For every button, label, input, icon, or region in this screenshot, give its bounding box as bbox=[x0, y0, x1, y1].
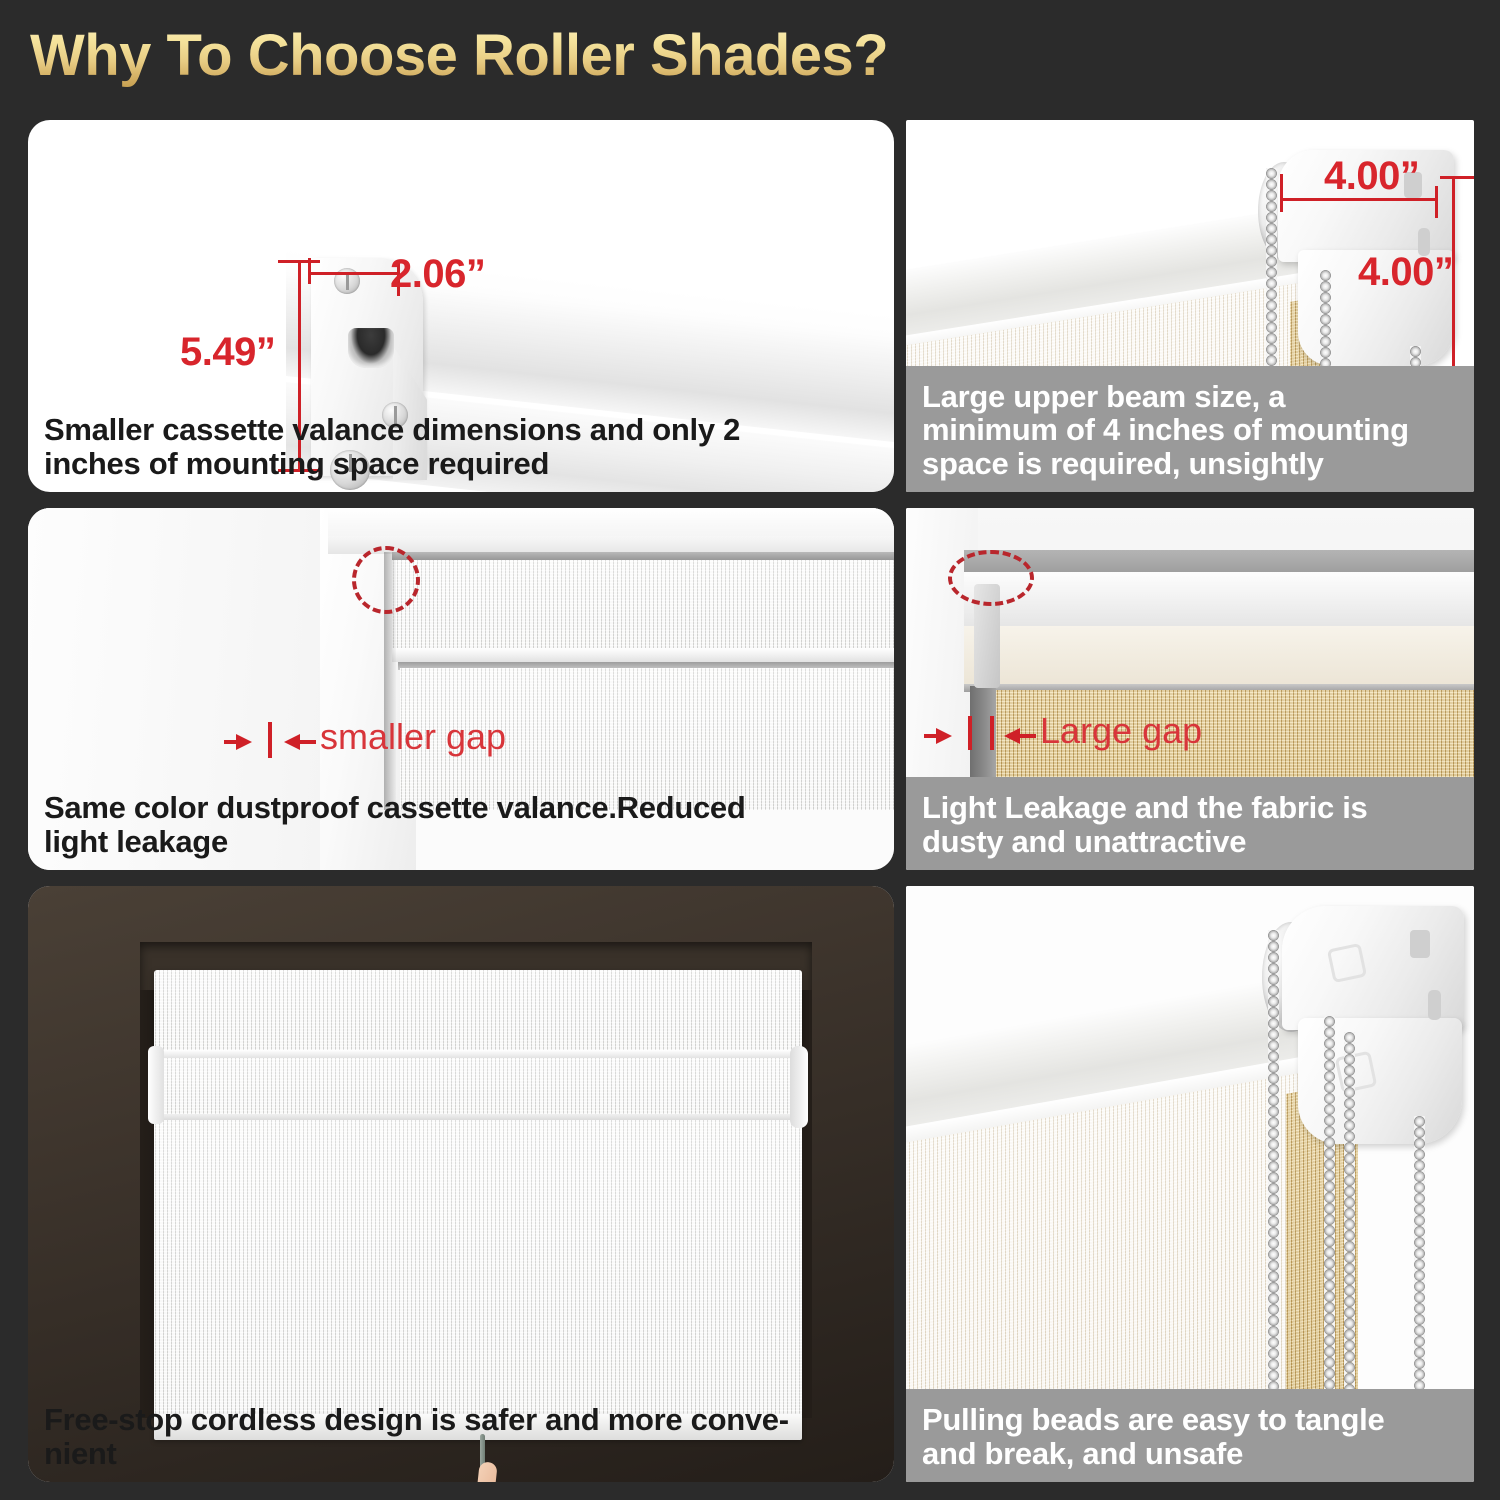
width-dimension-label: 4.00” bbox=[1324, 154, 1419, 199]
beam-front-face bbox=[964, 572, 1474, 630]
caption-line: Same color dustproof cassette valance.Re… bbox=[44, 791, 878, 824]
width-dim-tick-left bbox=[1280, 174, 1283, 212]
caption-line: Pulling beads are easy to tangle bbox=[922, 1403, 1458, 1436]
panel-smaller-gap: smaller gap Same color dustproof cassett… bbox=[28, 508, 894, 870]
caption-line: inches of mounting space required bbox=[44, 447, 878, 480]
panel-4-caption: Light Leakage and the fabric is dusty an… bbox=[906, 777, 1474, 870]
gap-arrow-right-tail bbox=[924, 734, 940, 738]
bracket-logo-emboss-top bbox=[1327, 943, 1367, 983]
gap-callout-label: smaller gap bbox=[320, 716, 506, 758]
caption-line: nient bbox=[44, 1437, 878, 1470]
width-dim-tick-right bbox=[1435, 186, 1438, 218]
gap-measure-bar-right bbox=[990, 716, 994, 750]
gap-arrow-right-tail bbox=[224, 740, 240, 744]
shade-fabric-main bbox=[154, 1120, 802, 1420]
gap-arrow-left-tail bbox=[1020, 734, 1036, 738]
bracket-notch-top bbox=[1410, 930, 1430, 958]
panel-pulling-beads: Pulling beads are easy to tangle and bre… bbox=[906, 886, 1474, 1482]
panel-1-caption: Smaller cassette valance dimensions and … bbox=[28, 399, 894, 492]
panel-large-beam: 4.00” 4.00” Large upper beam size, a min… bbox=[906, 120, 1474, 492]
panel-6-caption: Pulling beads are easy to tangle and bre… bbox=[906, 1389, 1474, 1482]
caption-line: minimum of 4 inches of mounting bbox=[922, 413, 1458, 446]
caption-line: Free-stop cordless design is safer and m… bbox=[44, 1403, 878, 1436]
gap-arrow-left bbox=[1004, 728, 1020, 744]
dashed-highlight-circle bbox=[948, 550, 1034, 606]
caption-line: space is required, unsightly bbox=[922, 447, 1458, 480]
caption-line: Light Leakage and the fabric is bbox=[922, 791, 1458, 824]
valance-end-cap-right bbox=[790, 1046, 808, 1128]
comparison-grid: 2.06” 5.49” Smaller cassette valance dim… bbox=[0, 0, 1500, 1500]
height-dim-tick-top bbox=[278, 260, 320, 263]
panel-2-caption: Large upper beam size, a minimum of 4 in… bbox=[906, 366, 1474, 492]
panel-cassette-dimensions: 2.06” 5.49” Smaller cassette valance dim… bbox=[28, 120, 894, 492]
dashed-highlight-circle bbox=[352, 546, 420, 614]
bracket-logo-emboss-bottom bbox=[1335, 1051, 1378, 1094]
width-dim-line bbox=[308, 272, 400, 275]
panel-cordless-design: Free-stop cordless design is safer and m… bbox=[28, 886, 894, 1482]
caption-line: Smaller cassette valance dimensions and … bbox=[44, 413, 878, 446]
caption-line: light leakage bbox=[44, 825, 878, 858]
height-dimension-label: 5.49” bbox=[180, 330, 275, 375]
panel-large-gap: Large gap Light Leakage and the fabric i… bbox=[906, 508, 1474, 870]
gap-measure-bar-left bbox=[968, 716, 972, 750]
bead-chain-mid-2 bbox=[1344, 1032, 1355, 1440]
height-dimension-label: 4.00” bbox=[1358, 250, 1453, 295]
valance-end-cap-left bbox=[148, 1046, 164, 1124]
panel-5-caption: Free-stop cordless design is safer and m… bbox=[28, 1389, 894, 1482]
gap-callout-label: Large gap bbox=[1040, 710, 1202, 752]
cassette-valance bbox=[154, 970, 802, 1056]
end-cap-slot bbox=[348, 328, 394, 368]
gap-measure-bar bbox=[268, 722, 272, 758]
gap-arrow-left-tail bbox=[300, 740, 316, 744]
beam-valance-cream bbox=[964, 626, 1474, 686]
height-dim-tick-top bbox=[1440, 176, 1474, 179]
width-dimension-label: 2.06” bbox=[390, 252, 485, 297]
valance-bottom-lip bbox=[392, 648, 894, 662]
caption-line: dusty and unattractive bbox=[922, 825, 1458, 858]
bead-chain-left bbox=[1268, 930, 1279, 1440]
bead-chain-mid bbox=[1324, 1016, 1335, 1440]
caption-line: Large upper beam size, a bbox=[922, 380, 1458, 413]
bracket-notch-mid bbox=[1428, 990, 1441, 1020]
gap-arrow-left bbox=[284, 734, 300, 750]
valance-face bbox=[392, 560, 894, 658]
caption-line: and break, and unsafe bbox=[922, 1437, 1458, 1470]
panel-3-caption: Same color dustproof cassette valance.Re… bbox=[28, 777, 894, 870]
mounting-bracket-lower bbox=[1298, 1018, 1462, 1144]
shade-fabric-upper bbox=[154, 1058, 802, 1120]
